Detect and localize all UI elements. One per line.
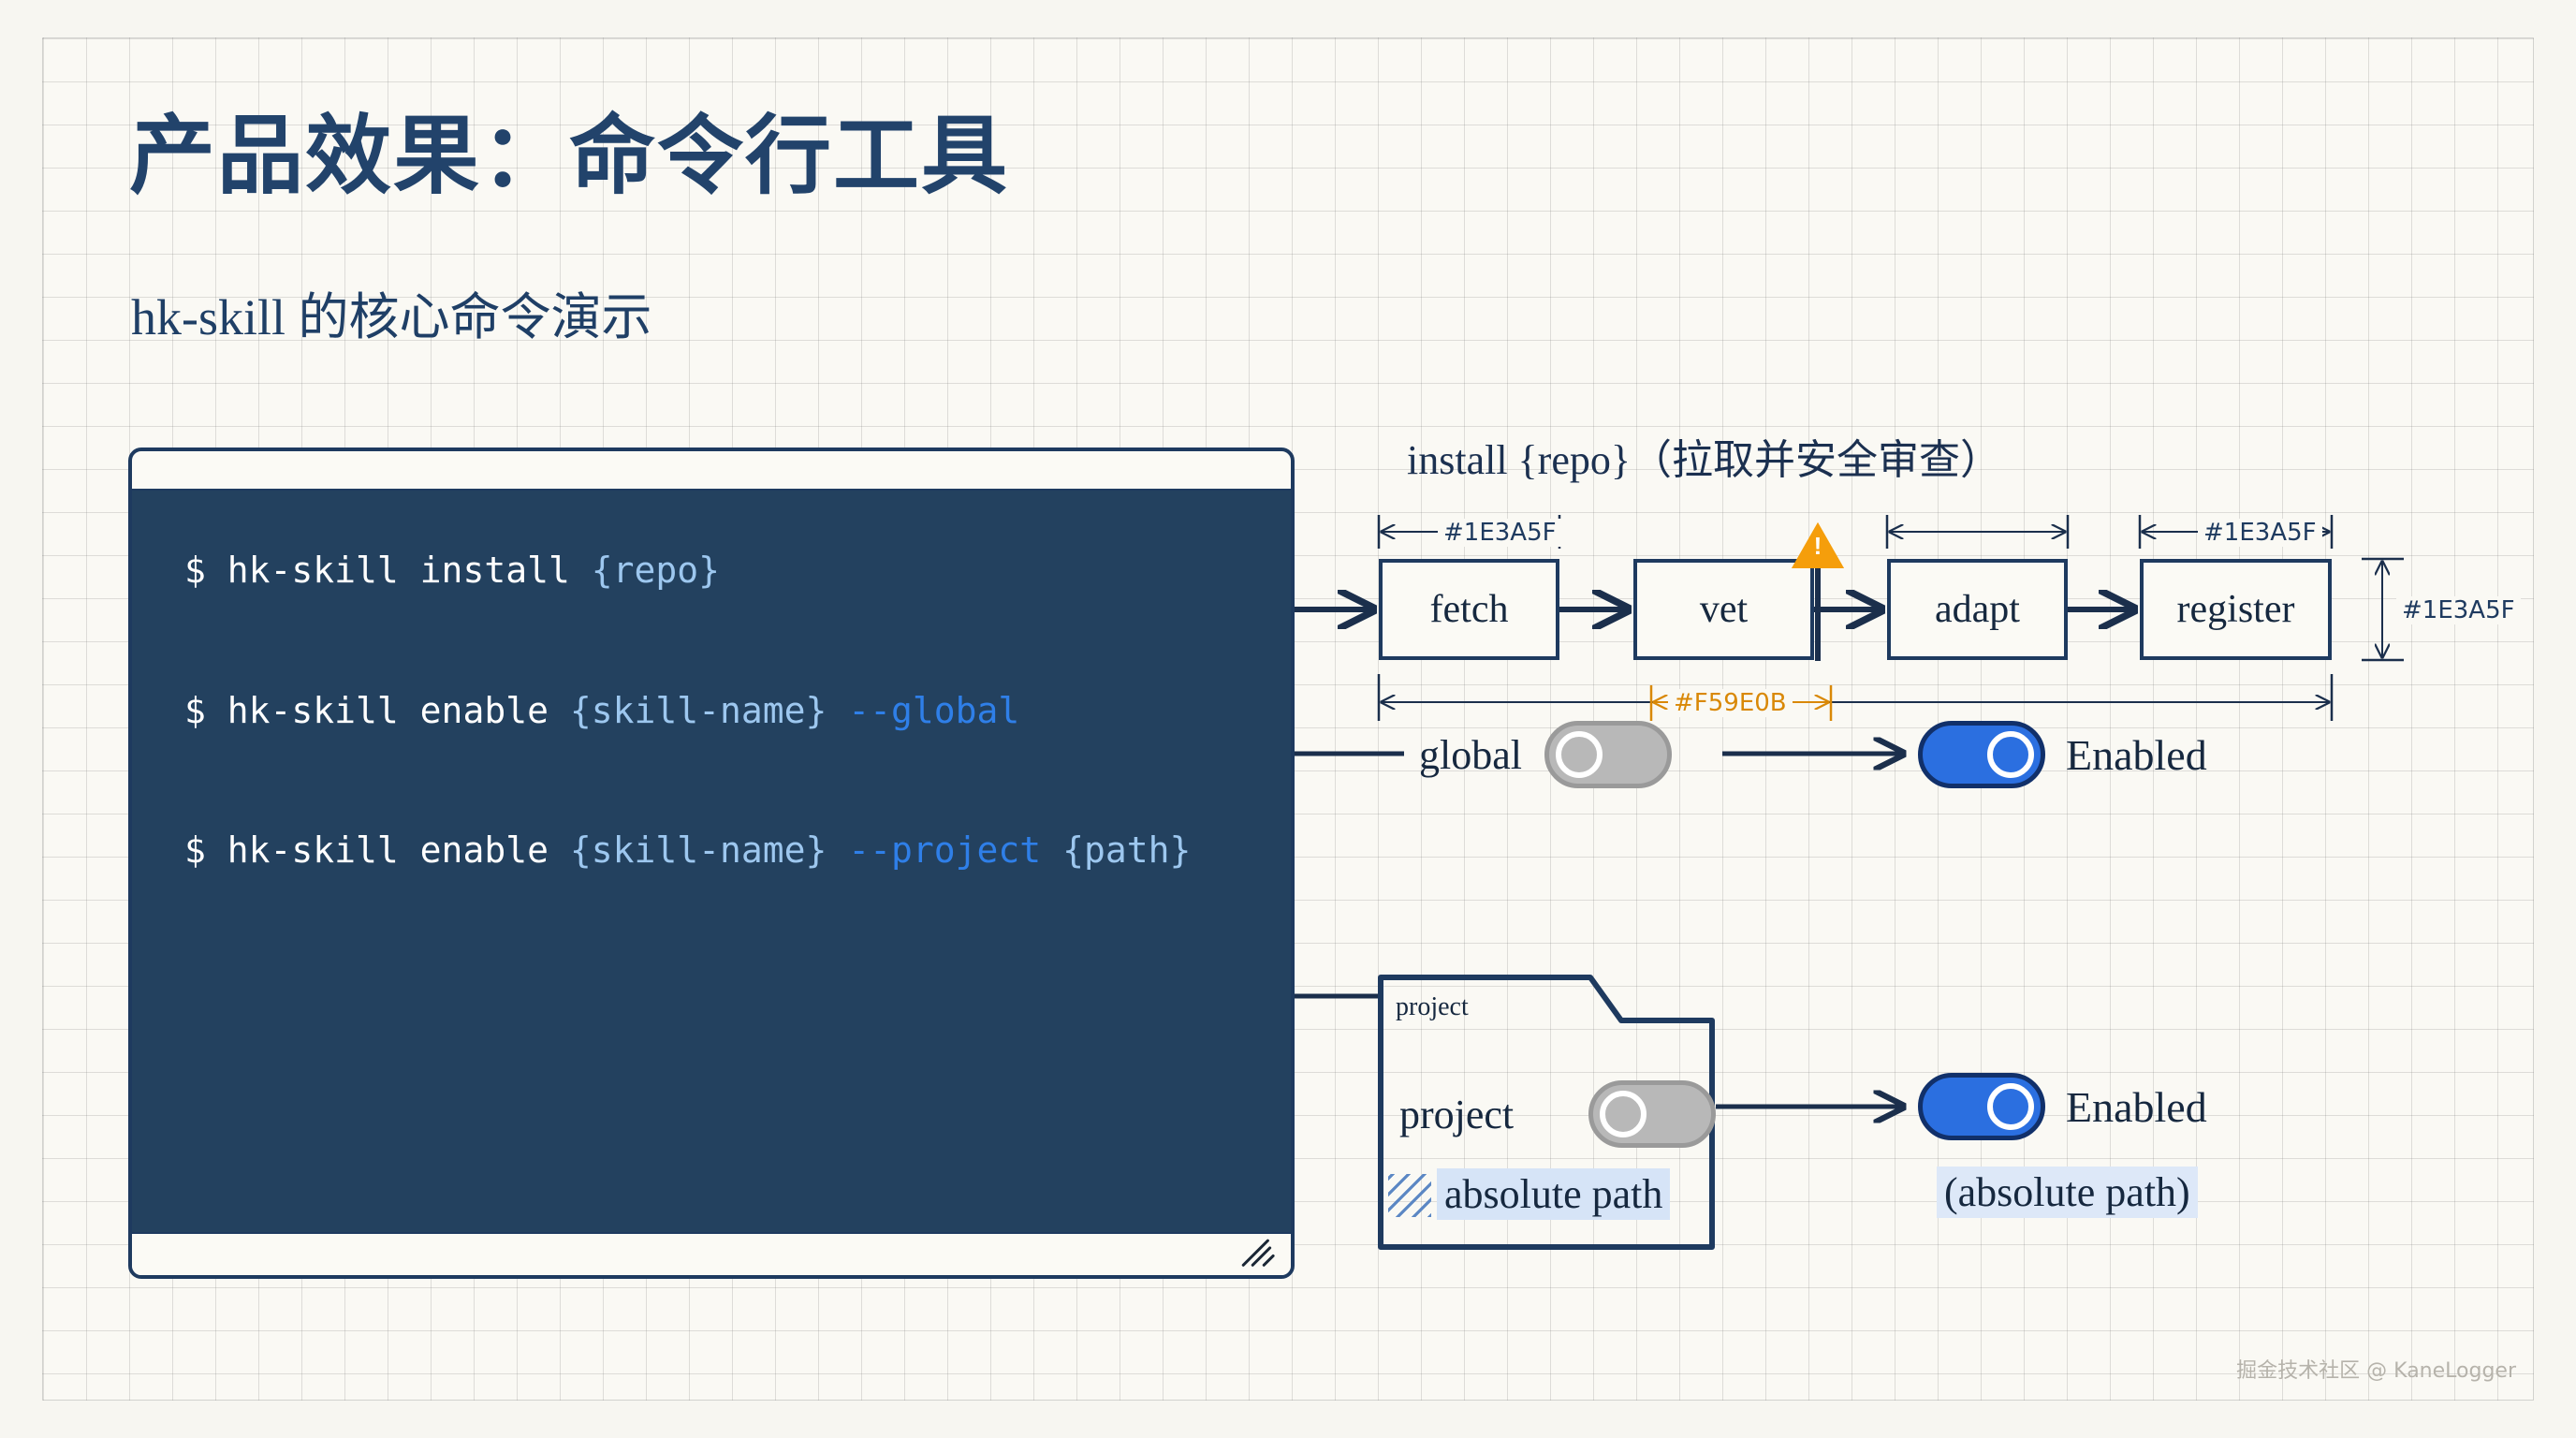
page-subtitle: hk-skill 的核心命令演示	[131, 290, 652, 345]
command-flag: --project	[848, 829, 1041, 871]
flow-caption: install {repo}（拉取并安全审查）	[1407, 426, 2001, 486]
toggle-knob	[1600, 1091, 1647, 1137]
global-toggle-on[interactable]	[1918, 721, 2045, 788]
flow-box-label: fetch	[1430, 587, 1509, 632]
command-arg-path: {path}	[1062, 829, 1191, 871]
toggle-knob	[1987, 1083, 2034, 1130]
project-toggle-on[interactable]	[1918, 1073, 2045, 1140]
global-toggle-off[interactable]	[1544, 721, 1672, 788]
project-folder-card[interactable]: project project absolute path	[1375, 977, 1712, 1249]
project-result-group: Enabled	[1918, 1073, 2207, 1140]
flow-box-label: adapt	[1935, 587, 2020, 632]
command-arg: {repo}	[592, 550, 720, 591]
watermark: 掘金技术社区 @ KaneLogger	[2236, 1354, 2516, 1384]
terminal-statusbar	[132, 1232, 1291, 1275]
command-text: hk-skill install	[227, 550, 570, 591]
global-enabled-text: Enabled	[2066, 730, 2207, 780]
flow-box-register[interactable]: register	[2140, 559, 2332, 660]
flow-box-label: vet	[1700, 587, 1748, 632]
terminal-line-install: $ hk-skill install {repo}	[184, 549, 1291, 594]
toggle-knob	[1556, 731, 1603, 778]
page-title: 产品效果：命令行工具	[129, 110, 1009, 203]
diagram-panel: install {repo}（拉取并安全审查） fetch vet adapt …	[1295, 412, 2539, 1283]
dimension-label-register: #1E3A5F	[2198, 519, 2322, 547]
project-label: project	[1399, 1091, 1514, 1138]
folder-tag-label: project	[1396, 992, 1469, 1022]
flow-box-vet[interactable]: vet	[1633, 559, 1814, 660]
project-result-note: (absolute path)	[1937, 1167, 2198, 1218]
global-result-group: Enabled	[1918, 721, 2207, 788]
flow-box-adapt[interactable]: adapt	[1887, 559, 2068, 660]
warning-triangle-icon	[1792, 522, 1844, 568]
terminal-line-enable-global: $ hk-skill enable {skill-name} --global	[184, 689, 1291, 734]
terminal-body[interactable]: $ hk-skill install {repo} $ hk-skill ena…	[132, 491, 1291, 1232]
hatch-pattern-icon	[1388, 1174, 1431, 1217]
dimension-label-height: #1E3A5F	[2396, 596, 2521, 624]
command-arg: {skill-name}	[570, 829, 827, 871]
dimension-label-fetch: #1E3A5F	[1438, 519, 1562, 547]
global-label: global	[1419, 731, 1522, 779]
global-toggle-group: global	[1419, 721, 1672, 788]
command-flag: --global	[848, 690, 1019, 731]
terminal-titlebar	[132, 451, 1291, 491]
prompt-symbol: $	[184, 550, 206, 591]
slide-canvas: 产品效果：命令行工具 hk-skill 的核心命令演示 $ hk-skill i…	[0, 0, 2576, 1438]
command-text: hk-skill enable	[227, 829, 549, 871]
absolute-path-label: absolute path	[1437, 1168, 1670, 1220]
project-enabled-text: Enabled	[2066, 1082, 2207, 1132]
dimension-label-accent: #F59E0B	[1668, 689, 1793, 717]
prompt-symbol: $	[184, 690, 206, 731]
resize-grip-icon[interactable]	[1240, 1236, 1280, 1269]
command-text: hk-skill enable	[227, 690, 549, 731]
project-toggle-off[interactable]	[1588, 1080, 1716, 1148]
command-arg: {skill-name}	[570, 690, 827, 731]
terminal-line-enable-project: $ hk-skill enable {skill-name} --project…	[184, 829, 1291, 873]
flow-box-fetch[interactable]: fetch	[1379, 559, 1559, 660]
prompt-symbol: $	[184, 829, 206, 871]
flow-box-label: register	[2177, 587, 2295, 632]
toggle-knob	[1987, 731, 2034, 778]
terminal-window[interactable]: $ hk-skill install {repo} $ hk-skill ena…	[128, 448, 1295, 1279]
